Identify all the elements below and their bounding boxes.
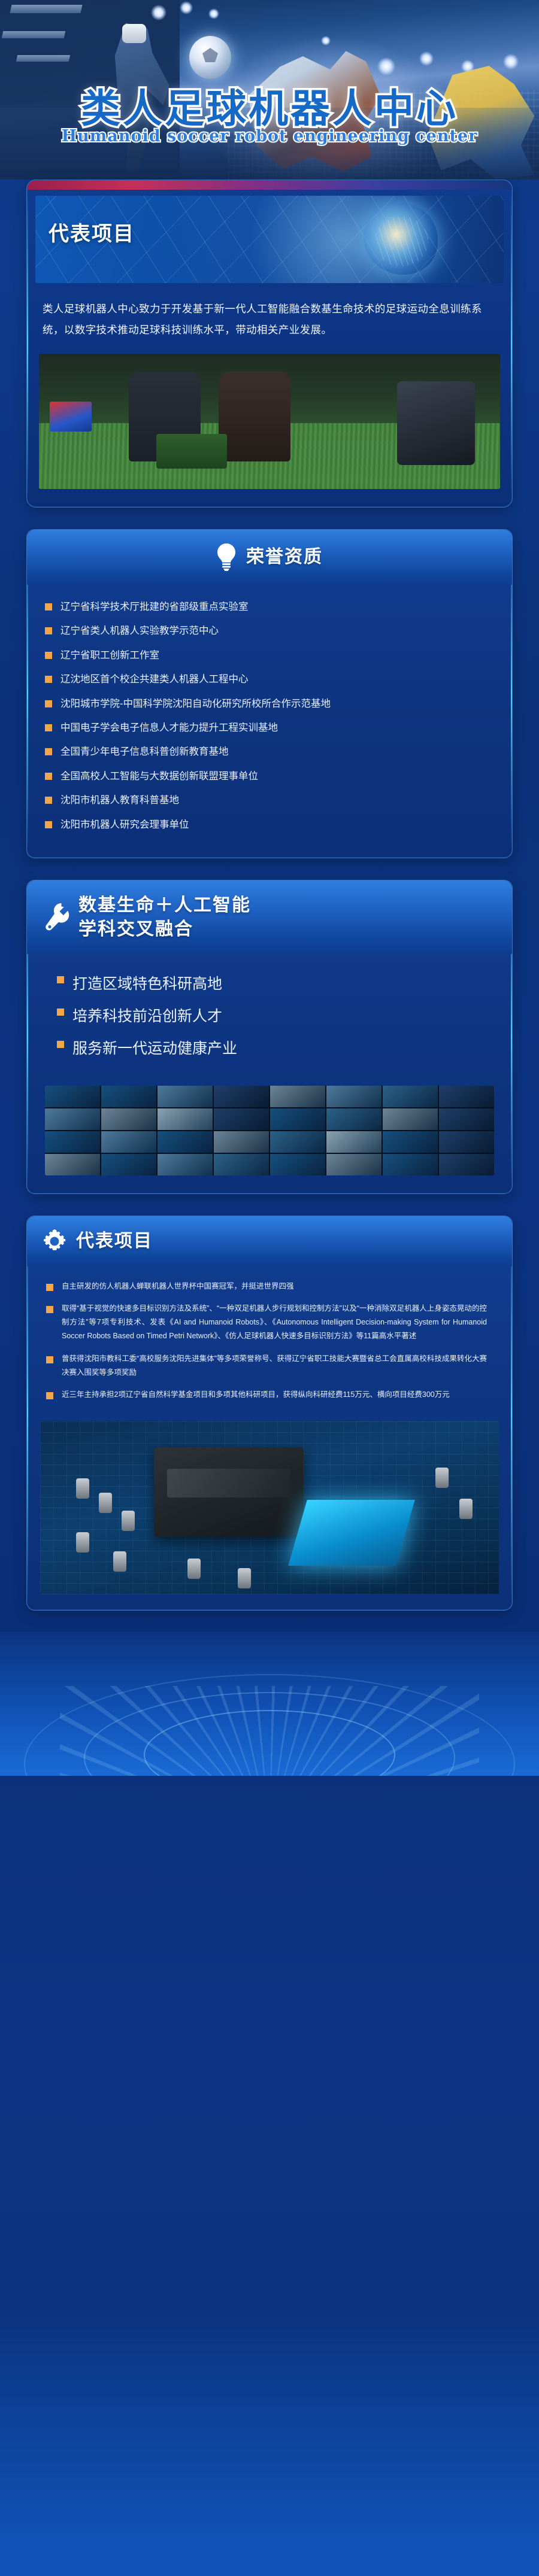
footer-decoration: [0, 1632, 539, 1776]
projects-body: 自主研发的仿人机器人蝉联机器人世界杯中国赛冠军，并挺进世界四强 取得“基于视觉的…: [27, 1266, 512, 1416]
intro-card: 代表项目 类人足球机器人中心致力于开发基于新一代人工智能融合数基生命技术的足球运…: [26, 180, 513, 508]
page-title: 类人足球机器人中心: [0, 77, 539, 134]
card-left-edge-glow: [27, 190, 28, 497]
honors-body: 辽宁省科学技术厅批建的省部级重点实验室 辽宁省类人机器人实验教学示范中心 辽宁省…: [27, 585, 512, 858]
stadium-lamp-icon: [208, 8, 219, 19]
bullet-square-icon: [45, 652, 52, 659]
list-item: 曾获得沈阳市教科工委“高校服务沈阳先进集体”等多项荣誉称号、获得辽宁省职工技能大…: [46, 1352, 487, 1380]
capacitor-decoration: [238, 1568, 251, 1588]
bullet-square-icon: [45, 627, 52, 634]
student-figure: [219, 372, 290, 461]
list-item: 自主研发的仿人机器人蝉联机器人世界杯中国赛冠军，并挺进世界四强: [46, 1280, 487, 1293]
capacitor-decoration: [76, 1532, 89, 1553]
card-right-edge-glow: [511, 539, 512, 848]
card-left-edge-glow: [27, 539, 28, 848]
card-left-edge-glow: [27, 1226, 28, 1600]
intro-top-gradient-band: [27, 180, 512, 190]
list-item-label: 培养科技前沿创新人才: [72, 1004, 222, 1028]
bullet-square-icon: [45, 797, 52, 804]
list-item-label: 中国电子学会电子信息人才能力提升工程实训基地: [60, 720, 278, 736]
fusion-card: 数基生命＋人工智能 学科交叉融合 打造区域特色科研高地 培养科技前沿创新人才 服…: [26, 880, 513, 1194]
list-item-label: 曾获得沈阳市教科工委“高校服务沈阳先进集体”等多项荣誉称号、获得辽宁省职工技能大…: [62, 1352, 487, 1380]
projects-list: 自主研发的仿人机器人蝉联机器人世界杯中国赛冠军，并挺进世界四强 取得“基于视觉的…: [46, 1280, 487, 1402]
capacitor-decoration: [459, 1499, 473, 1519]
list-item-label: 服务新一代运动健康产业: [72, 1037, 237, 1061]
intro-banner-title: 代表项目: [49, 217, 135, 247]
list-item: 培养科技前沿创新人才: [57, 1004, 494, 1028]
capacitor-decoration: [113, 1551, 126, 1572]
list-item-label: 全国高校人工智能与大数据创新联盟理事单位: [60, 768, 258, 784]
list-item-label: 辽宁省职工创新工作室: [60, 648, 159, 663]
hero-banner: 类人足球机器人中心 Humanoid soccer robot engineer…: [0, 0, 539, 180]
list-item-label: 取得“基于视觉的快速多目标识别方法及系统”、“一种双足机器人步行规划和控制方法”…: [62, 1302, 487, 1343]
fusion-header: 数基生命＋人工智能 学科交叉融合: [27, 880, 512, 954]
list-item: 全国青少年电子信息科普创新教育基地: [45, 744, 494, 760]
list-item: 打造区域特色科研高地: [57, 972, 494, 996]
capacitor-decoration: [99, 1493, 112, 1513]
card-right-edge-glow: [511, 1226, 512, 1600]
list-item: 服务新一代运动健康产业: [57, 1037, 494, 1061]
robot-figure: [397, 381, 475, 465]
fusion-title: 数基生命＋人工智能 学科交叉融合: [78, 894, 251, 941]
list-item: 辽宁省职工创新工作室: [45, 648, 494, 663]
ceiling-truss-decoration: [2, 31, 66, 38]
list-item: 辽宁省科学技术厅批建的省部级重点实验室: [45, 599, 494, 615]
bullet-square-icon: [57, 976, 64, 983]
processor-chip-icon: [154, 1447, 304, 1537]
stadium-lamp-icon: [503, 54, 519, 69]
ceiling-truss-decoration: [16, 55, 70, 62]
projects-title: 代表项目: [76, 1229, 153, 1253]
list-item-label: 沈阳市机器人研究会理事单位: [60, 817, 189, 833]
list-item: 辽宁省类人机器人实验教学示范中心: [45, 623, 494, 639]
fusion-list: 打造区域特色科研高地 培养科技前沿创新人才 服务新一代运动健康产业: [57, 972, 494, 1061]
bullet-square-icon: [45, 748, 52, 755]
bullet-square-icon: [46, 1306, 53, 1313]
bullet-square-icon: [45, 821, 52, 828]
list-item: 近三年主持承担2项辽宁省自然科学基金项目和多项其他科研项目，获得纵向科研经费11…: [46, 1388, 487, 1402]
list-item: 沈阳市机器人研究会理事单位: [45, 817, 494, 833]
intro-photo: [39, 354, 500, 489]
stadium-lamp-icon: [419, 51, 434, 66]
bullet-square-icon: [46, 1356, 53, 1363]
bullet-square-icon: [45, 773, 52, 780]
fusion-title-line1: 数基生命＋人工智能: [78, 895, 251, 915]
capacitor-decoration: [187, 1559, 201, 1579]
fusion-title-line2: 学科交叉融合: [78, 919, 193, 939]
stadium-lamp-icon: [180, 1, 193, 14]
bullet-square-icon: [46, 1392, 53, 1399]
honors-title: 荣誉资质: [246, 545, 323, 569]
stadium-lamp-icon: [377, 57, 395, 75]
list-item: 全国高校人工智能与大数据创新联盟理事单位: [45, 768, 494, 784]
list-item-label: 自主研发的仿人机器人蝉联机器人世界杯中国赛冠军，并挺进世界四强: [62, 1280, 294, 1293]
capacitor-decoration: [122, 1511, 135, 1531]
projects-card: 代表项目 自主研发的仿人机器人蝉联机器人世界杯中国赛冠军，并挺进世界四强 取得“…: [26, 1216, 513, 1611]
gear-icon: [43, 1229, 66, 1253]
laptop-icon: [156, 434, 227, 469]
page-subtitle: Humanoid soccer robot engineering center: [0, 127, 539, 145]
card-right-edge-glow: [511, 190, 512, 497]
lightbulb-icon: [216, 543, 237, 572]
list-item-label: 辽沈地区首个校企共建类人机器人工程中心: [60, 672, 249, 687]
list-item: 沈阳城市学院-中国科学院沈阳自动化研究所校所合作示范基地: [45, 696, 494, 712]
list-item-label: 打造区域特色科研高地: [72, 972, 222, 996]
honors-header: 荣誉资质: [27, 530, 512, 585]
bullet-square-icon: [57, 1041, 64, 1048]
projects-header: 代表项目: [27, 1216, 512, 1266]
capacitor-decoration: [76, 1478, 89, 1499]
wrench-icon: [45, 902, 70, 933]
list-item: 沈阳市机器人教育科普基地: [45, 792, 494, 808]
capacitor-decoration: [435, 1468, 449, 1488]
glowing-pad-decoration: [288, 1500, 415, 1566]
list-item-label: 沈阳城市学院-中国科学院沈阳自动化研究所校所合作示范基地: [60, 696, 331, 712]
fusion-body: 打造区域特色科研高地 培养科技前沿创新人才 服务新一代运动健康产业: [27, 954, 512, 1080]
bullet-square-icon: [46, 1284, 53, 1291]
list-item-label: 沈阳市机器人教育科普基地: [60, 792, 179, 808]
honors-list: 辽宁省科学技术厅批建的省部级重点实验室 辽宁省类人机器人实验教学示范中心 辽宁省…: [45, 599, 494, 833]
soccer-ball-icon: [189, 36, 231, 79]
video-wall-photo: [45, 1086, 494, 1175]
intro-banner: 代表项目: [35, 196, 504, 283]
list-item-label: 近三年主持承担2项辽宁省自然科学基金项目和多项其他科研项目，获得纵向科研经费11…: [62, 1388, 450, 1402]
list-item-label: 辽宁省科学技术厅批建的省部级重点实验室: [60, 599, 249, 615]
honors-card: 荣誉资质 辽宁省科学技术厅批建的省部级重点实验室 辽宁省类人机器人实验教学示范中…: [26, 529, 513, 858]
stadium-lamp-icon: [321, 36, 331, 45]
bullet-square-icon: [45, 724, 52, 731]
list-item: 中国电子学会电子信息人才能力提升工程实训基地: [45, 720, 494, 736]
bullet-square-icon: [45, 676, 52, 683]
list-item-label: 辽宁省类人机器人实验教学示范中心: [60, 623, 219, 639]
bullet-square-icon: [45, 700, 52, 707]
list-item-label: 全国青少年电子信息科普创新教育基地: [60, 744, 229, 760]
circuit-board-photo: [40, 1421, 499, 1594]
stadium-lamp-icon: [151, 5, 166, 20]
bullet-square-icon: [45, 603, 52, 610]
intro-body-text: 类人足球机器人中心致力于开发基于新一代人工智能融合数基生命技术的足球运动全息训练…: [43, 299, 496, 341]
list-item: 取得“基于视觉的快速多目标识别方法及系统”、“一种双足机器人步行规划和控制方法”…: [46, 1302, 487, 1343]
vr-headset-icon: [122, 24, 146, 43]
list-item: 辽沈地区首个校企共建类人机器人工程中心: [45, 672, 494, 687]
bullet-square-icon: [57, 1008, 64, 1016]
monitor-decoration: [50, 402, 92, 432]
ceiling-truss-decoration: [10, 5, 83, 13]
